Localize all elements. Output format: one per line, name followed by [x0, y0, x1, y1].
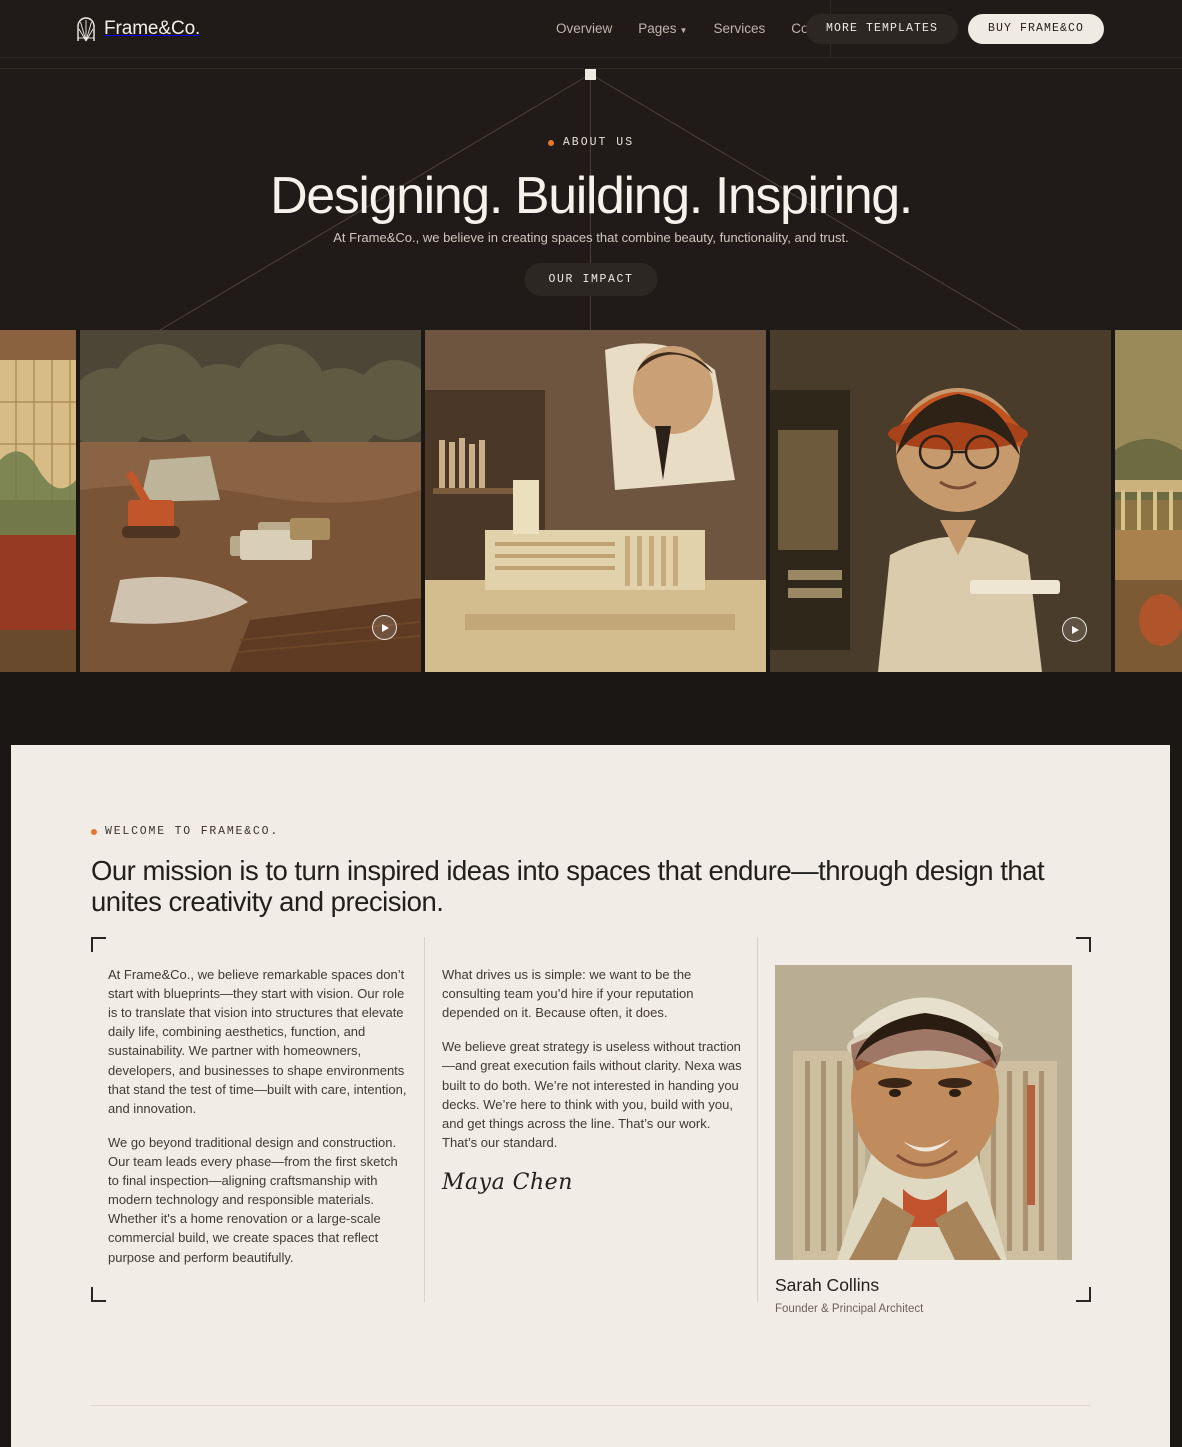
top-navigation-bar: Frame&Co. Overview Pages▼ Services Conta… — [0, 0, 1182, 58]
portrait-hardhat-worker-image — [775, 965, 1072, 1260]
mission-statement: Our mission is to turn inspired ideas in… — [91, 855, 1081, 917]
accent-dot-icon — [548, 140, 554, 146]
hero-eyebrow-label: ABOUT US — [563, 136, 634, 149]
gallery-item-architect-with-model[interactable] — [425, 330, 766, 672]
about-paragraph: What drives us is simple: we want to be … — [442, 965, 742, 1022]
nav-link-overview[interactable]: Overview — [556, 21, 612, 36]
about-paragraph: We go beyond traditional design and cons… — [108, 1133, 408, 1267]
play-icon[interactable] — [372, 615, 397, 640]
about-panel: WELCOME TO FRAME&CO. Our mission is to t… — [11, 745, 1170, 1447]
arch-window-icon — [76, 16, 96, 42]
nav-action-buttons: MORE TEMPLATES BUY FRAME&CO — [806, 14, 1104, 44]
hero-subtitle: At Frame&Co., we believe in creating spa… — [0, 230, 1182, 245]
corner-bracket-bottom-left — [91, 1287, 106, 1302]
column-divider — [757, 937, 758, 1302]
vanishing-point-marker — [585, 69, 596, 80]
brand-name: Frame&Co. — [104, 18, 200, 40]
signature: Maya Chen — [442, 1170, 742, 1195]
section-divider — [91, 1405, 1091, 1406]
person-role: Founder & Principal Architect — [775, 1303, 1075, 1315]
about-content-frame: At Frame&Co., we believe remarkable spac… — [91, 937, 1091, 1302]
about-eyebrow: WELCOME TO FRAME&CO. — [91, 825, 279, 838]
hillside-villa-pool-image — [1115, 330, 1182, 672]
architect-with-model-image — [425, 330, 766, 672]
gallery-item-engineer-portrait-hardhat[interactable] — [770, 330, 1111, 672]
play-icon[interactable] — [1062, 617, 1087, 642]
brand-logo[interactable]: Frame&Co. — [76, 16, 200, 42]
nav-link-pages[interactable]: Pages▼ — [638, 21, 687, 36]
about-paragraph: At Frame&Co., we believe remarkable spac… — [108, 965, 408, 1118]
corner-bracket-top-left — [91, 937, 106, 952]
about-person-card: Sarah Collins Founder & Principal Archit… — [775, 965, 1075, 1315]
about-paragraph: We believe great strategy is useless wit… — [442, 1037, 742, 1152]
gallery-item-hillside-villa-pool[interactable] — [1115, 330, 1182, 672]
accent-dot-icon — [91, 829, 97, 835]
gallery-item-interior-lounge-window[interactable] — [0, 330, 76, 672]
construction-site-excavator-image — [80, 330, 421, 672]
hero-eyebrow: ABOUT US — [0, 136, 1182, 149]
column-divider — [424, 937, 425, 1302]
hero-section: ABOUT US Designing. Building. Inspiring.… — [0, 58, 1182, 330]
corner-bracket-bottom-right — [1076, 1287, 1091, 1302]
nav-links: Overview Pages▼ Services Contact — [556, 21, 838, 36]
corner-bracket-top-right — [1076, 937, 1091, 952]
more-templates-button[interactable]: MORE TEMPLATES — [806, 14, 958, 44]
interior-lounge-window-image — [0, 330, 76, 672]
gallery-item-construction-site-excavator[interactable] — [80, 330, 421, 672]
about-column-two: What drives us is simple: we want to be … — [442, 965, 742, 1195]
image-gallery-strip — [0, 330, 1182, 672]
about-eyebrow-label: WELCOME TO FRAME&CO. — [105, 825, 279, 838]
avatar — [775, 965, 1072, 1260]
person-name: Sarah Collins — [775, 1275, 1075, 1296]
nav-link-services[interactable]: Services — [713, 21, 765, 36]
about-column-one: At Frame&Co., we believe remarkable spac… — [108, 965, 408, 1282]
our-impact-button[interactable]: OUR IMPACT — [524, 263, 657, 296]
chevron-down-icon: ▼ — [680, 26, 688, 35]
buy-template-button[interactable]: BUY FRAME&CO — [968, 14, 1104, 44]
hero-title: Designing. Building. Inspiring. — [0, 166, 1182, 226]
engineer-portrait-hardhat-image — [770, 330, 1111, 672]
